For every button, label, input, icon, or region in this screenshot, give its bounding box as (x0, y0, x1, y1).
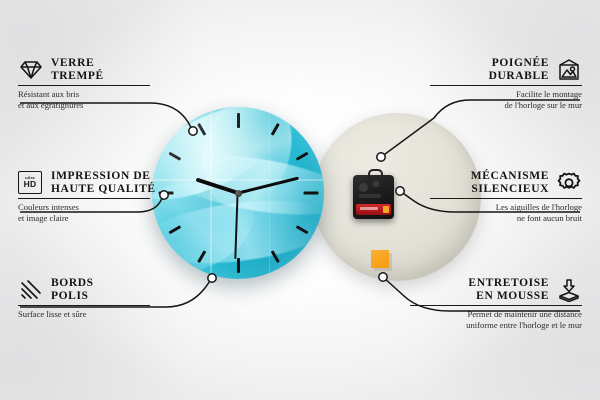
feature-divider (18, 198, 150, 199)
feature-subtitle: Couleurs intenses et image claire (18, 202, 150, 223)
clock-mechanism (353, 175, 394, 219)
feature-title: ENTRETOISE EN MOUSSE (468, 277, 549, 302)
battery-positive-terminal (383, 206, 389, 213)
feature-divider (18, 85, 150, 86)
feature-mecanisme-silencieux[interactable]: MÉCANISME SILENCIEUX Les aiguilles de l'… (430, 170, 582, 223)
feature-verre-trempe[interactable]: VERRE TREMPÉ Résistant aux bris et aux é… (18, 57, 150, 110)
feature-poignee-durable[interactable]: POIGNÉE DURABLE Facilite le montage de l… (430, 57, 582, 110)
hour-marker-9 (158, 192, 173, 195)
polished-edges-icon (18, 278, 44, 302)
feature-divider (430, 198, 582, 199)
feature-divider (430, 85, 582, 86)
feature-title: IMPRESSION DE HAUTE QUALITÉ (51, 170, 156, 195)
feature-title: BORDS POLIS (51, 277, 94, 302)
pattern-line-vertical-2 (269, 107, 270, 279)
mechanism-hanger-hook (368, 169, 383, 180)
feature-header: MÉCANISME SILENCIEUX (430, 170, 582, 195)
clock-front-face (152, 107, 324, 279)
feature-title: POIGNÉE DURABLE (489, 57, 549, 82)
feature-entretoise-en-mousse[interactable]: ENTRETOISE EN MOUSSE Permet de maintenir… (410, 277, 582, 330)
feature-subtitle: Facilite le montage de l'horloge sur le … (430, 89, 582, 110)
feature-title: MÉCANISME SILENCIEUX (471, 170, 549, 195)
feature-divider (18, 305, 150, 306)
hour-marker-6 (237, 258, 240, 273)
infographic-canvas: VERRE TREMPÉ Résistant aux bris et aux é… (0, 0, 600, 400)
foam-spacer-icon (556, 278, 582, 302)
feature-bords-polis[interactable]: BORDS POLIS Surface lisse et sûre (18, 277, 150, 320)
gear-icon (556, 171, 582, 195)
feature-subtitle: Surface lisse et sûre (18, 309, 150, 319)
mechanism-slot (359, 194, 381, 198)
diamond-icon (18, 58, 44, 82)
battery-label-strip (360, 207, 378, 210)
feature-header: VERRE TREMPÉ (18, 57, 150, 82)
feature-title: VERRE TREMPÉ (51, 57, 104, 82)
feature-header: ENTRETOISE EN MOUSSE (410, 277, 582, 302)
hour-marker-2 (295, 152, 308, 161)
mechanism-dial (359, 183, 368, 192)
pattern-line-vertical (210, 107, 212, 279)
feature-header: ultra HD IMPRESSION DE HAUTE QUALITÉ (18, 170, 150, 195)
ultra-hd-icon: ultra HD (18, 171, 44, 195)
battery (356, 204, 391, 215)
feature-subtitle: Résistant aux bris et aux égratignures (18, 89, 150, 110)
feature-header: BORDS POLIS (18, 277, 150, 302)
feature-header: POIGNÉE DURABLE (430, 57, 582, 82)
feature-subtitle: Permet de maintenir une distance uniform… (410, 309, 582, 330)
hands-center-cap (235, 190, 242, 197)
framed-picture-hanger-icon (556, 58, 582, 82)
foam-spacer-sample (371, 250, 389, 268)
feature-divider (410, 305, 582, 306)
hour-marker-3 (303, 192, 318, 195)
hour-marker-12 (237, 113, 240, 128)
feature-impression-haute-qualite[interactable]: ultra HD IMPRESSION DE HAUTE QUALITÉ Cou… (18, 170, 150, 223)
feature-subtitle: Les aiguilles de l'horloge ne font aucun… (430, 202, 582, 223)
mechanism-button (373, 181, 379, 187)
